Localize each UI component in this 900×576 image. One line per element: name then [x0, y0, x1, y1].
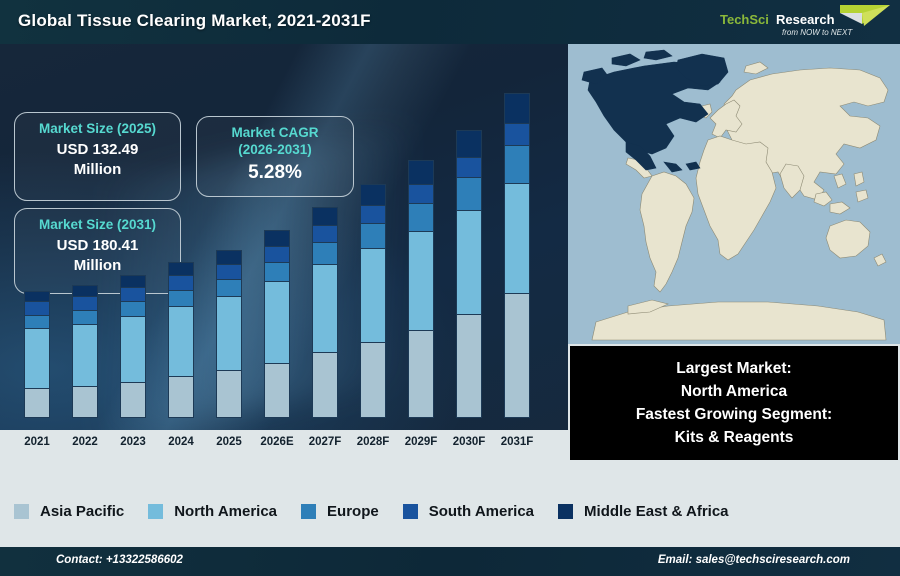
x-tick-2031F: 2031F [487, 436, 547, 448]
page-title: Global Tissue Clearing Market, 2021-2031… [18, 11, 371, 31]
legend-swatch-icon [558, 504, 573, 519]
contact-email: Email: sales@techsciresearch.com [658, 554, 850, 566]
fastest-segment-label: Fastest Growing Segment: [570, 404, 898, 426]
legend-item-north-america[interactable]: North America [148, 503, 277, 520]
legend-item-asia-pacific[interactable]: Asia Pacific [14, 503, 124, 520]
contact-phone: Contact: +13322586602 [56, 554, 183, 566]
svg-text:TechSci: TechSci [720, 12, 769, 27]
chart-panel: Market Size (2025) USD 132.49 Million Ma… [0, 44, 568, 460]
fastest-segment-value: Kits & Reagents [570, 427, 898, 449]
svg-text:Research: Research [776, 12, 835, 27]
legend-item-europe[interactable]: Europe [301, 503, 379, 520]
chart-legend: Asia PacificNorth AmericaEuropeSouth Ame… [0, 488, 900, 534]
footer-bar: Contact: +13322586602 Email: sales@techs… [0, 547, 900, 576]
legend-label: North America [174, 503, 277, 520]
legend-label: South America [429, 503, 534, 520]
market-highlights-panel: Largest Market: North America Fastest Gr… [570, 346, 898, 460]
x-axis-labels: 202120222023202420252026E2027F2028F2029F… [0, 44, 568, 460]
legend-item-south-america[interactable]: South America [403, 503, 534, 520]
legend-swatch-icon [403, 504, 418, 519]
legend-label: Europe [327, 503, 379, 520]
world-map [568, 44, 900, 344]
legend-label: Asia Pacific [40, 503, 124, 520]
svg-text:from NOW to NEXT: from NOW to NEXT [782, 28, 853, 37]
legend-swatch-icon [148, 504, 163, 519]
legend-swatch-icon [14, 504, 29, 519]
largest-market-value: North America [570, 381, 898, 403]
infographic-page: Global Tissue Clearing Market, 2021-2031… [0, 0, 900, 576]
largest-market-label: Largest Market: [570, 358, 898, 380]
header-bar: Global Tissue Clearing Market, 2021-2031… [0, 0, 900, 44]
techsci-research-logo: TechSci Research from NOW to NEXT [712, 2, 892, 42]
legend-swatch-icon [301, 504, 316, 519]
legend-item-middle-east-africa[interactable]: Middle East & Africa [558, 503, 728, 520]
legend-label: Middle East & Africa [584, 503, 728, 520]
